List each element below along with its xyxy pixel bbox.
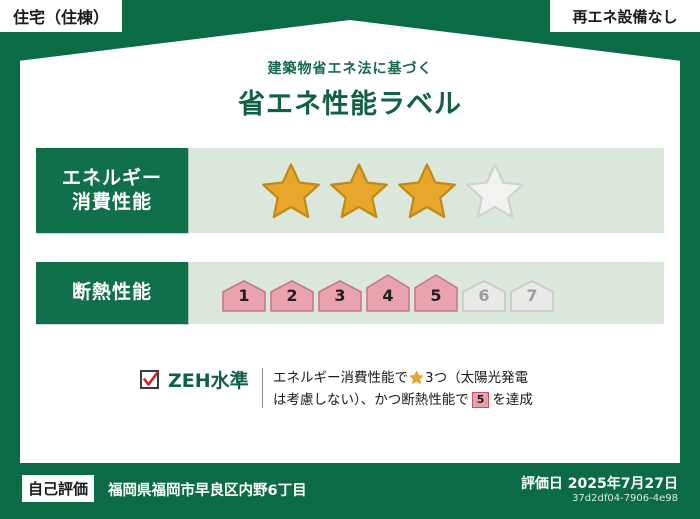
insulation-grade-7: 7 — [510, 280, 554, 312]
zeh-desc-line2-pre: は考慮しない）、かつ断熱性能で — [273, 392, 469, 408]
star-icon-empty — [464, 161, 526, 221]
house-type-tag-label: 住宅（住棟） — [13, 4, 109, 28]
insulation-grade-value: 3 — [318, 286, 362, 305]
insulation-grade-2: 2 — [270, 280, 314, 312]
insulation-performance-row: 断熱性能 1234567 — [36, 262, 664, 324]
insulation-label: 断熱性能 — [72, 281, 152, 304]
zeh-standard-label: ZEH水準 — [168, 366, 249, 393]
insulation-grade-value: 4 — [366, 286, 410, 305]
insulation-grade-6: 6 — [462, 280, 506, 312]
check-icon — [143, 372, 159, 388]
insulation-grade-5: 5 — [414, 274, 458, 312]
insulation-grade-scale: 1234567 — [222, 274, 554, 312]
star-icon-filled — [396, 161, 458, 221]
label-subtitle: 建築物省エネ法に基づく — [0, 58, 700, 78]
zeh-checkbox — [140, 370, 159, 389]
self-evaluation-badge: 自己評価 — [22, 475, 94, 502]
star-icon-filled — [328, 161, 390, 221]
energy-performance-label-block: エネルギー 消費性能 — [36, 148, 188, 233]
energy-label-line2: 消費性能 — [72, 191, 152, 214]
energy-performance-value-area — [188, 148, 664, 233]
insulation-performance-label-block: 断熱性能 — [36, 262, 188, 324]
insulation-grade-3: 3 — [318, 280, 362, 312]
renewable-equipment-label: 再エネ設備なし — [572, 6, 677, 27]
insulation-performance-value-area: 1234567 — [188, 262, 664, 324]
house-type-tag: 住宅（住棟） — [0, 0, 124, 34]
label-title: 省エネ性能ラベル — [0, 82, 700, 121]
zeh-description: エネルギー消費性能で3つ（太陽光発電 は考慮しない）、かつ断熱性能で5を達成 — [273, 368, 573, 412]
insulation-grade-value: 5 — [414, 286, 458, 305]
zeh-desc-line1-post: 3つ（太陽光発電 — [425, 370, 528, 386]
insulation-grade-value: 1 — [222, 286, 266, 305]
energy-performance-label: 住宅（住棟） 再エネ設備なし 建築物省エネ法に基づく 省エネ性能ラベル エネルギ… — [0, 0, 700, 519]
zeh-standard-block: ZEH水準 — [140, 366, 249, 393]
star-icon-filled — [260, 161, 322, 221]
star-icon — [409, 370, 424, 385]
insulation-grade-value: 2 — [270, 286, 314, 305]
zeh-desc-line1-pre: エネルギー消費性能で — [273, 370, 408, 386]
label-footer: 自己評価 福岡県福岡市早良区内野6丁目 評価日 2025年7月27日 37d2d… — [0, 463, 700, 519]
insulation-grade-value: 6 — [462, 286, 506, 305]
insulation-grade-value: 7 — [510, 286, 554, 305]
zeh-desc-line2-post: を達成 — [492, 392, 533, 408]
energy-label-line1: エネルギー — [62, 167, 162, 190]
zeh-desc-grade-badge: 5 — [472, 392, 490, 408]
evaluation-date: 評価日 2025年7月27日 — [521, 473, 678, 493]
title-block: 建築物省エネ法に基づく 省エネ性能ラベル — [0, 58, 700, 121]
property-address: 福岡県福岡市早良区内野6丁目 — [108, 479, 307, 500]
energy-performance-row: エネルギー 消費性能 — [36, 148, 664, 233]
evaluation-id: 37d2df04-7906-4e98 — [572, 493, 678, 504]
insulation-grade-4: 4 — [366, 274, 410, 312]
star-rating — [260, 161, 526, 221]
renewable-equipment-tag: 再エネ設備なし — [548, 0, 700, 34]
insulation-grade-1: 1 — [222, 280, 266, 312]
zeh-divider — [262, 368, 263, 408]
